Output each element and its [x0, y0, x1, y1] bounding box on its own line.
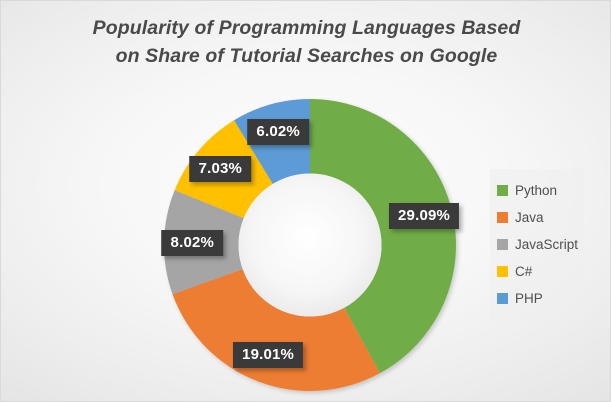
legend-item-javascript[interactable]: JavaScript [497, 231, 578, 258]
legend-swatch-icon [497, 266, 508, 277]
data-label-c-: 7.03% [190, 156, 252, 182]
legend-item-label: JavaScript [515, 237, 578, 252]
legend-item-python[interactable]: Python [497, 177, 578, 204]
legend-item-label: C# [515, 264, 532, 279]
chart-legend: PythonJavaJavaScriptC#PHP [490, 169, 584, 320]
chart-title: Popularity of Programming Languages Base… [1, 15, 611, 70]
chart-title-line-1: Popularity of Programming Languages Base… [1, 15, 611, 43]
legend-swatch-icon [497, 293, 508, 304]
legend-item-php[interactable]: PHP [497, 285, 578, 312]
legend-swatch-icon [497, 212, 508, 223]
legend-item-c-[interactable]: C# [497, 258, 578, 285]
legend-item-label: PHP [515, 291, 543, 306]
data-label-java: 19.01% [233, 342, 303, 368]
legend-item-label: Java [515, 210, 544, 225]
legend-item-label: Python [515, 183, 557, 198]
data-label-javascript: 8.02% [162, 230, 224, 256]
legend-swatch-icon [497, 239, 508, 250]
plot-area: 29.09%19.01%8.02%7.03%6.02% [164, 99, 456, 391]
donut-chart-figure: Popularity of Programming Languages Base… [0, 0, 611, 402]
data-label-php: 6.02% [247, 119, 309, 145]
legend-swatch-icon [497, 185, 508, 196]
data-label-python: 29.09% [389, 203, 459, 229]
chart-title-line-2: on Share of Tutorial Searches on Google [1, 43, 611, 71]
legend-item-java[interactable]: Java [497, 204, 578, 231]
donut-center-hole [239, 174, 382, 317]
